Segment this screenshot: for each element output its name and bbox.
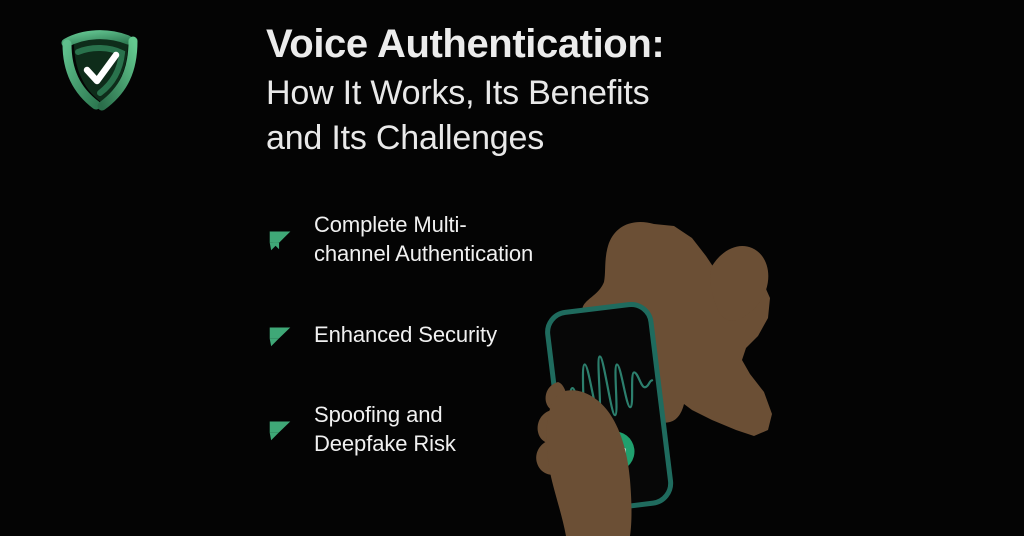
list-item-label: Complete Multi- channel Authentication [314, 210, 533, 269]
page-subtitle: How It Works, Its Benefits and Its Chall… [266, 71, 826, 161]
chevron-flag-icon [266, 318, 296, 352]
chevron-flag-icon [266, 222, 296, 256]
brand-logo [54, 26, 146, 112]
page-subtitle-line-1: How It Works, Its Benefits [266, 71, 826, 116]
voice-authentication-banner: Voice Authentication: How It Works, Its … [0, 0, 1024, 536]
shield-check-icon [54, 26, 146, 112]
list-item-label: Enhanced Security [314, 320, 497, 349]
chevron-flag-icon [266, 412, 296, 446]
page-subtitle-line-2: and Its Challenges [266, 116, 826, 161]
person-speaking-into-phone-illustration [506, 214, 846, 536]
list-item-label: Spoofing and Deepfake Risk [314, 400, 456, 459]
page-title: Voice Authentication: [266, 20, 826, 69]
heading-block: Voice Authentication: How It Works, Its … [266, 20, 826, 161]
